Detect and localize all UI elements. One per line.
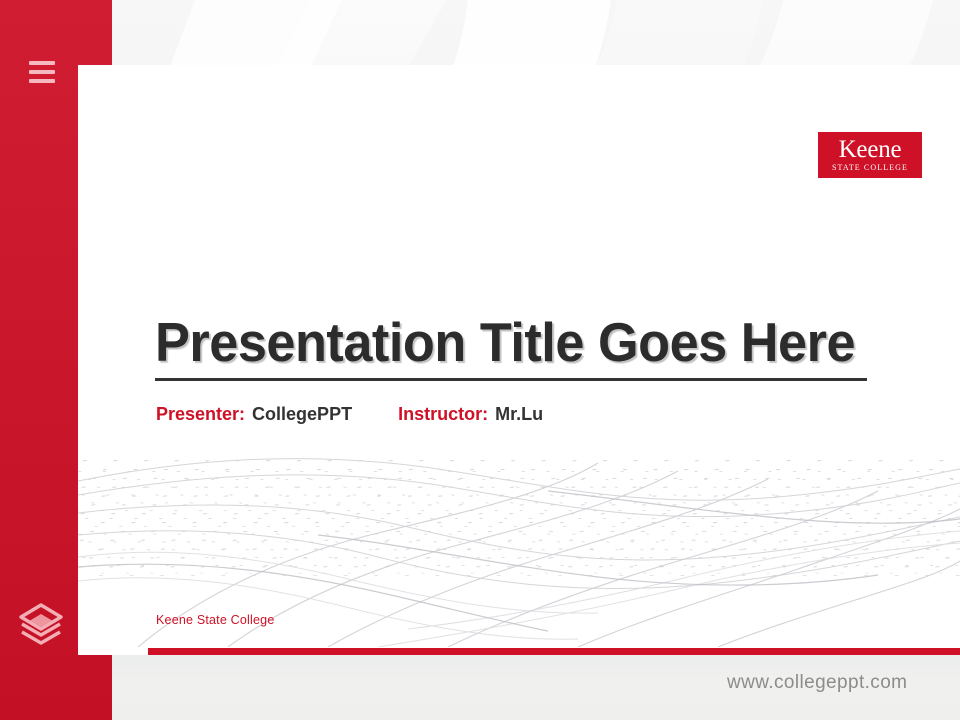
hamburger-icon[interactable] [29,61,55,83]
instructor-value: Mr.Lu [495,404,543,425]
page-title: Presentation Title Goes Here [155,311,906,373]
hamburger-bar [29,61,55,65]
hamburger-bar [29,79,55,83]
title-divider [155,378,867,381]
layers-icon[interactable] [16,600,66,648]
slide-footer-text: Keene State College [156,613,274,627]
instructor-label: Instructor: [398,404,488,425]
website-url: www.collegeppt.com [727,672,907,694]
logo-subtitle: STATE COLLEGE [832,163,908,173]
presenter-label: Presenter: [156,404,245,425]
keene-state-college-logo: Keene STATE COLLEGE [818,132,922,178]
presenter-value: CollegePPT [252,404,352,425]
slide-footer-bar [148,648,960,655]
presenter-info-row: Presenter: CollegePPT Instructor: Mr.Lu [156,404,543,425]
logo-wordmark: Keene [839,137,902,162]
hamburger-bar [29,70,55,74]
slide-preview-stage: Keene STATE COLLEGE Presentation Title G… [0,0,960,720]
slide-canvas: Keene STATE COLLEGE Presentation Title G… [78,65,960,655]
